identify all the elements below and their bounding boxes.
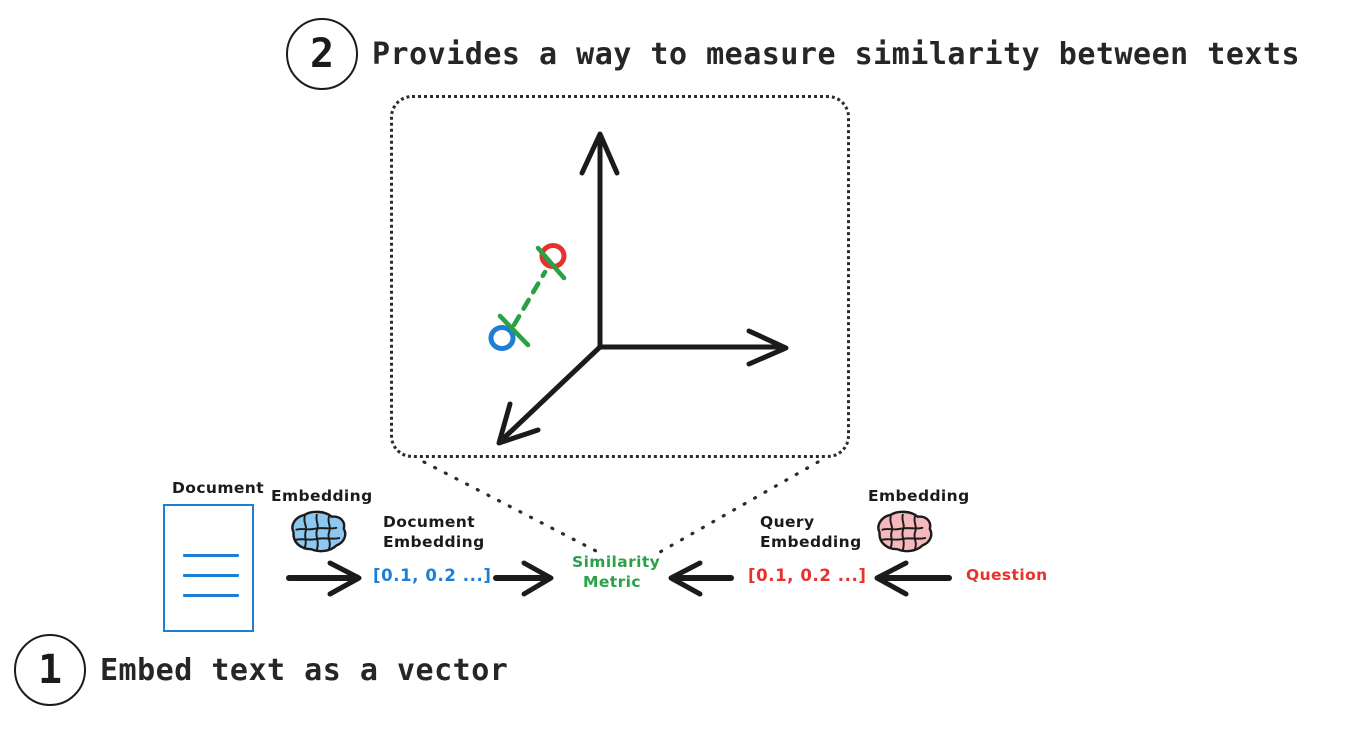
document-to-brain-arrow (289, 563, 359, 594)
query-embedding-label: Query Embedding (760, 512, 862, 553)
question-to-brain-arrow (877, 563, 949, 594)
similarity-metric-label: Similarity Metric (572, 552, 652, 593)
step-1: 1 Embed text as a vector (14, 634, 508, 706)
brain-right-icon (878, 512, 931, 551)
document-vector-value: [0.1, 0.2 ...] (373, 565, 492, 587)
embedding-label-left: Embedding (271, 486, 373, 506)
step-1-number: 1 (38, 650, 62, 690)
brain-to-document-vector-arrow (496, 563, 551, 594)
vector-space-panel (390, 95, 850, 458)
embedding-label-right: Embedding (868, 486, 970, 506)
document-line (183, 574, 239, 577)
step-2-number: 2 (310, 34, 334, 74)
document-embedding-label: Document Embedding (383, 512, 485, 553)
document-icon (163, 504, 254, 632)
question-label: Question (966, 565, 1048, 585)
document-line (183, 594, 239, 597)
step-1-heading: Embed text as a vector (100, 653, 508, 688)
step-1-badge: 1 (14, 634, 86, 706)
query-vector-to-metric-arrow (671, 563, 731, 594)
document-label: Document (172, 478, 264, 498)
step-2: 2 Provides a way to measure similarity b… (286, 18, 1300, 90)
step-2-badge: 2 (286, 18, 358, 90)
query-vector-value: [0.1, 0.2 ...] (748, 565, 867, 587)
step-2-heading: Provides a way to measure similarity bet… (372, 37, 1300, 72)
brain-left-icon (292, 512, 345, 551)
document-line (183, 554, 239, 557)
